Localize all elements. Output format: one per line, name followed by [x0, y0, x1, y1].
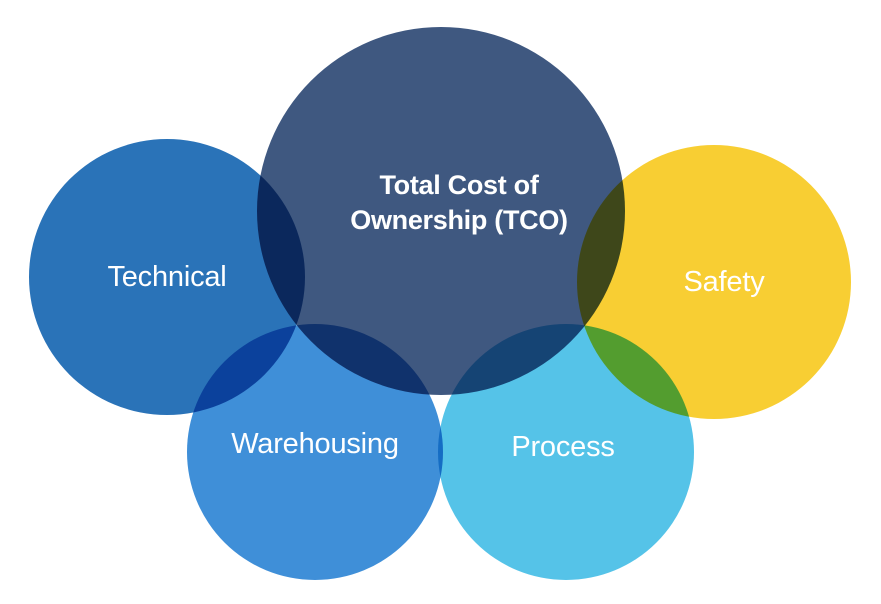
label-process: Process: [423, 430, 703, 464]
label-safety: Safety: [584, 265, 864, 299]
label-technical: Technical: [27, 260, 307, 294]
venn-circles-canvas: [0, 0, 881, 604]
label-warehousing: Warehousing: [175, 427, 455, 461]
label-tco: Total Cost of Ownership (TCO): [294, 168, 624, 238]
venn-diagram: Technical Safety Warehousing Process Tot…: [0, 0, 881, 604]
